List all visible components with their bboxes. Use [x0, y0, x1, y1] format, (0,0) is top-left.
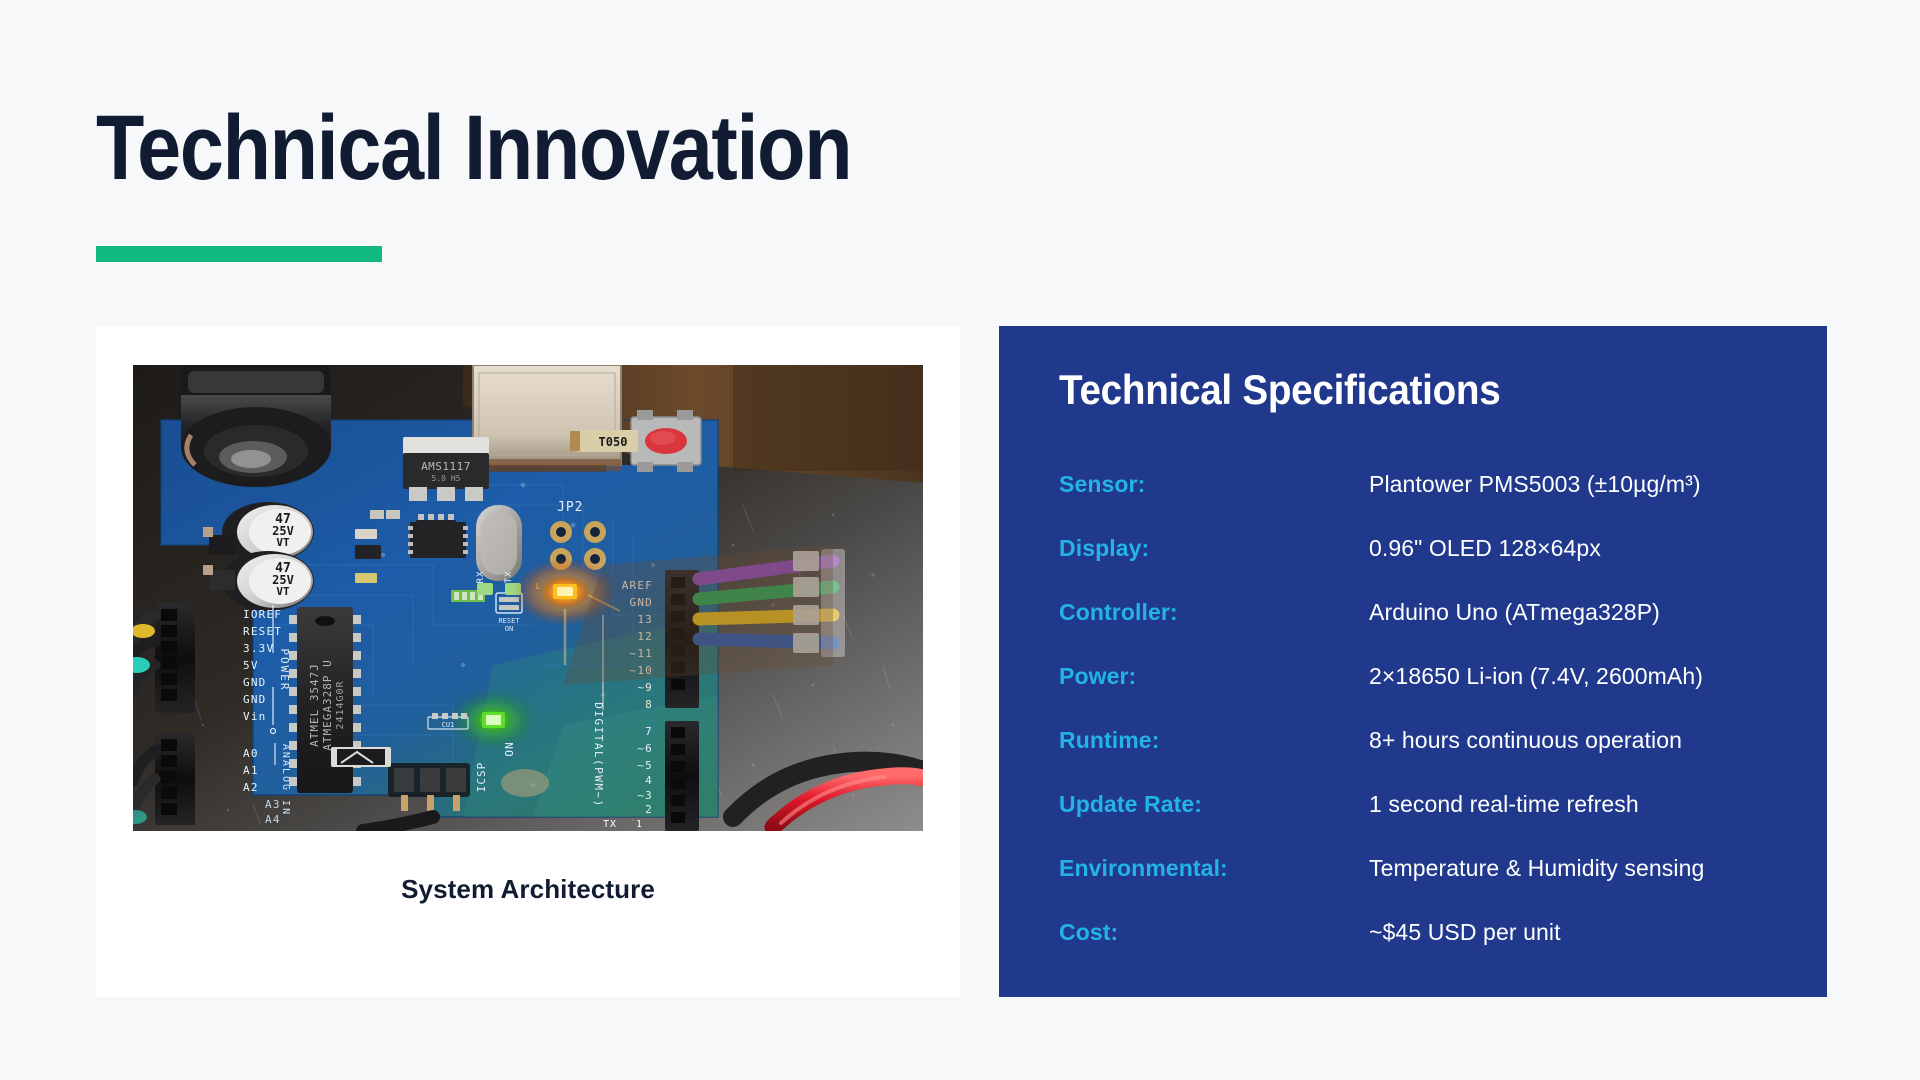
svg-text:POWER: POWER [278, 648, 291, 691]
svg-text:A2: A2 [243, 781, 259, 794]
spec-label: Power: [1059, 663, 1369, 690]
spec-value: 2×18650 Li-ion (7.4V, 2600mAh) [1369, 663, 1703, 690]
svg-text:ANALOG IN: ANALOG IN [280, 744, 291, 816]
svg-text:ATMEL 3547J: ATMEL 3547J [308, 663, 321, 747]
spec-list: Sensor: Plantower PMS5003 (±10µg/m³) Dis… [1059, 471, 1787, 983]
svg-text:A4: A4 [265, 813, 281, 826]
svg-text:5.0 H5: 5.0 H5 [432, 474, 461, 483]
spec-row: Environmental: Temperature & Humidity se… [1059, 855, 1787, 919]
svg-text:CU1: CU1 [442, 721, 455, 729]
svg-text:RESET: RESET [243, 625, 282, 638]
spec-row: Update Rate: 1 second real-time refresh [1059, 791, 1787, 855]
tx-silkscreen: TX [504, 571, 514, 584]
spec-row: Runtime: 8+ hours continuous operation [1059, 727, 1787, 791]
svg-text:ON: ON [505, 625, 513, 633]
svg-text:IOREF: IOREF [243, 608, 282, 621]
spec-value: ~$45 USD per unit [1369, 919, 1561, 946]
spec-label: Display: [1059, 535, 1369, 562]
spec-value: 1 second real-time refresh [1369, 791, 1639, 818]
svg-text:TX: TX [603, 819, 617, 830]
figure-caption: System Architecture [96, 874, 960, 905]
spec-label: Runtime: [1059, 727, 1369, 754]
spec-row: Sensor: Plantower PMS5003 (±10µg/m³) [1059, 471, 1787, 535]
technical-specifications-panel: Technical Specifications Sensor: Plantow… [999, 326, 1827, 997]
svg-text:4: 4 [645, 774, 653, 787]
spec-panel-title: Technical Specifications [1059, 366, 1500, 414]
svg-text:~3: ~3 [637, 789, 653, 802]
svg-text:GND: GND [243, 693, 266, 706]
svg-text:A3: A3 [265, 798, 281, 811]
chip-part-label: ATMEGA328P U [321, 659, 334, 750]
title-accent-bar [96, 246, 382, 262]
spec-row: Power: 2×18650 Li-ion (7.4V, 2600mAh) [1059, 663, 1787, 727]
svg-text:1: 1 [636, 819, 643, 830]
spec-value: Arduino Uno (ATmega328P) [1369, 599, 1660, 626]
spec-value: 8+ hours continuous operation [1369, 727, 1682, 754]
system-architecture-photo: AMS1117 5.0 H5 T050 47 25V VT [133, 365, 923, 831]
svg-text:AMS1117: AMS1117 [421, 460, 471, 473]
svg-text:Vin: Vin [243, 710, 266, 723]
spec-label: Cost: [1059, 919, 1369, 946]
spec-row: Display: 0.96" OLED 128×64px [1059, 535, 1787, 599]
spec-row: Controller: Arduino Uno (ATmega328P) [1059, 599, 1787, 663]
svg-text:5V: 5V [243, 659, 259, 672]
spec-value: 0.96" OLED 128×64px [1369, 535, 1601, 562]
spec-label: Controller: [1059, 599, 1369, 626]
spec-value: Temperature & Humidity sensing [1369, 855, 1704, 882]
jp2-label: JP2 [557, 500, 583, 515]
svg-text:2414G0R: 2414G0R [335, 680, 346, 729]
svg-text:7: 7 [645, 725, 653, 738]
reset-silkscreen: RESET [498, 617, 520, 625]
svg-text:GND: GND [243, 676, 266, 689]
spec-row: Cost: ~$45 USD per unit [1059, 919, 1787, 983]
svg-text:8: 8 [645, 698, 653, 711]
svg-text:~5: ~5 [637, 759, 653, 772]
svg-text:3.3V: 3.3V [243, 642, 274, 655]
spec-label: Update Rate: [1059, 791, 1369, 818]
svg-text:2: 2 [645, 803, 653, 816]
svg-text:VT: VT [276, 585, 290, 598]
figure-card: AMS1117 5.0 H5 T050 47 25V VT [96, 326, 960, 997]
digital-section-label: DIGITAL(PWM~) [592, 702, 605, 808]
svg-text:A0: A0 [243, 747, 259, 760]
spec-label: Sensor: [1059, 471, 1369, 498]
fuse-label: T050 [599, 435, 628, 449]
spec-label: Environmental: [1059, 855, 1369, 882]
icsp-silkscreen: ICSP [475, 762, 488, 793]
on-led-silkscreen: ON [503, 741, 516, 756]
rx-silkscreen: RX [476, 571, 486, 584]
svg-text:VT: VT [276, 536, 290, 549]
spec-value: Plantower PMS5003 (±10µg/m³) [1369, 471, 1701, 498]
svg-text:~9: ~9 [637, 681, 653, 694]
svg-text:~6: ~6 [637, 742, 653, 755]
svg-text:A1: A1 [243, 764, 259, 777]
page-title: Technical Innovation [96, 102, 851, 194]
